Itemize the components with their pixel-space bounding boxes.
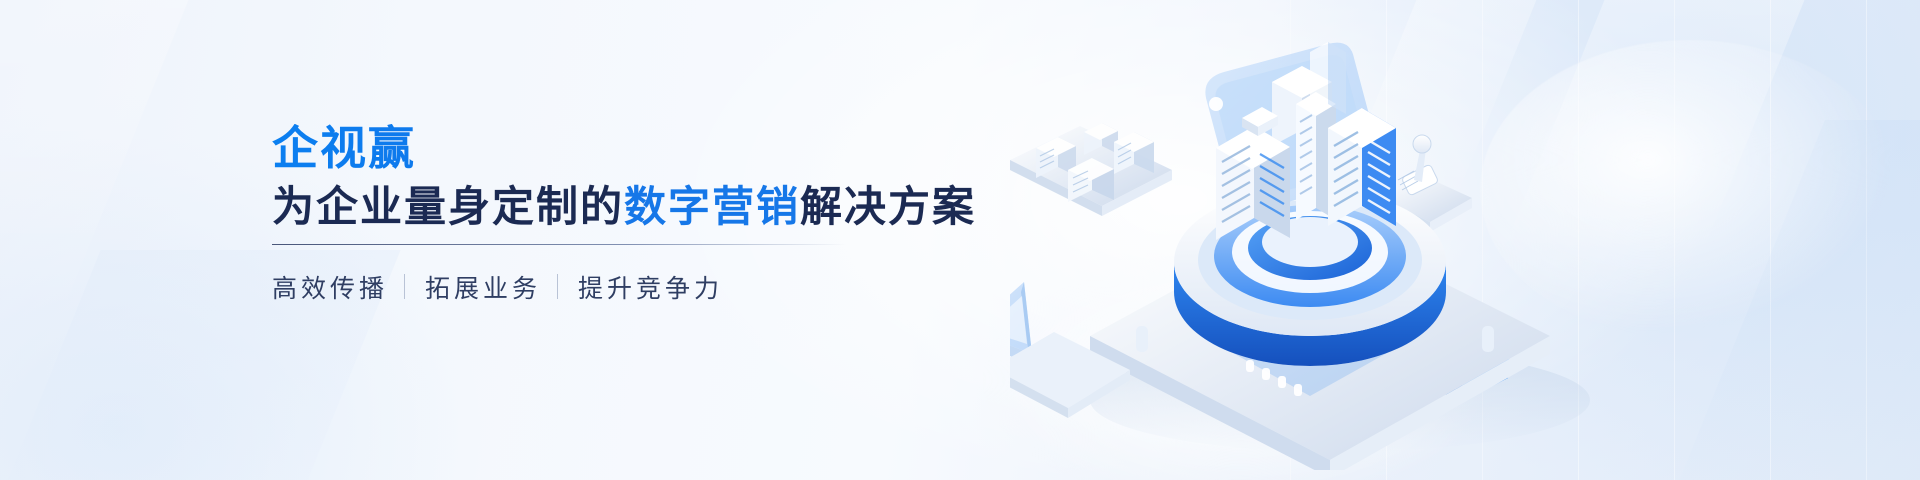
headline-highlight: 数字营销: [624, 183, 800, 230]
background-stripe-1: [0, 0, 213, 300]
tagline-item-3: 提升竞争力: [578, 269, 723, 305]
brand-title: 企视赢: [272, 124, 1032, 173]
platform-foot-left: [1136, 326, 1148, 352]
tagline-separator-1: [404, 274, 405, 299]
panel-knob: [1209, 97, 1223, 111]
tagline-item-1: 高效传播: [272, 269, 388, 305]
platform-foot-right: [1482, 326, 1494, 352]
keyboard-tile: [1010, 123, 1172, 216]
headline-divider: [272, 244, 846, 245]
marketing-banner: 企视赢 为企业量身定制的数字营销解决方案 高效传播 拓展业务 提升竞争力: [0, 0, 1920, 480]
tagline: 高效传播 拓展业务 提升竞争力: [272, 269, 1032, 305]
tagline-item-2: 拓展业务: [425, 269, 541, 305]
headline: 为企业量身定制的数字营销解决方案: [272, 183, 1032, 230]
hero-illustration: [1010, 30, 1710, 470]
circular-platform: [1174, 188, 1446, 366]
glass-column: [1310, 42, 1346, 114]
tagline-separator-2: [557, 274, 558, 299]
mic-head: [1413, 135, 1431, 153]
headline-lead: 为企业量身定制的: [272, 183, 624, 230]
headline-tail: 解决方案: [800, 183, 976, 230]
banner-copy: 企视赢 为企业量身定制的数字营销解决方案 高效传播 拓展业务 提升竞争力: [272, 124, 1032, 305]
